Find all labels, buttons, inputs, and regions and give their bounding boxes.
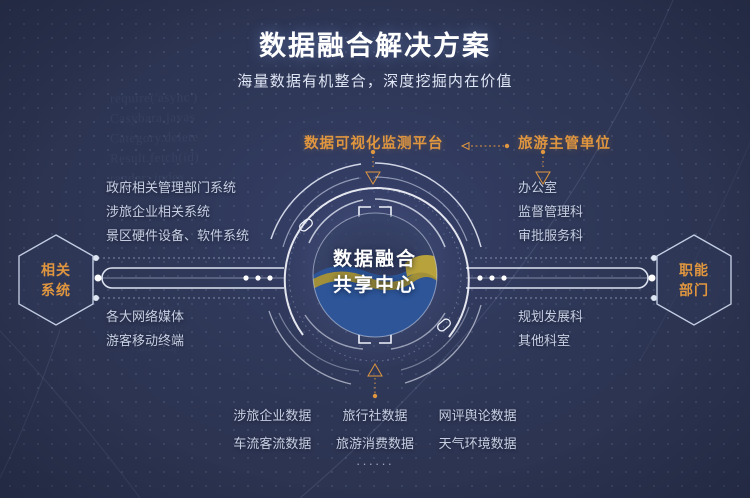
core-line1: 数据融合 (255, 247, 495, 273)
core-label: 数据融合 共享中心 (255, 247, 495, 299)
infographic-canvas: require('async') Casybara.javas Category… (0, 0, 750, 498)
core-line2: 共享中心 (255, 273, 495, 299)
